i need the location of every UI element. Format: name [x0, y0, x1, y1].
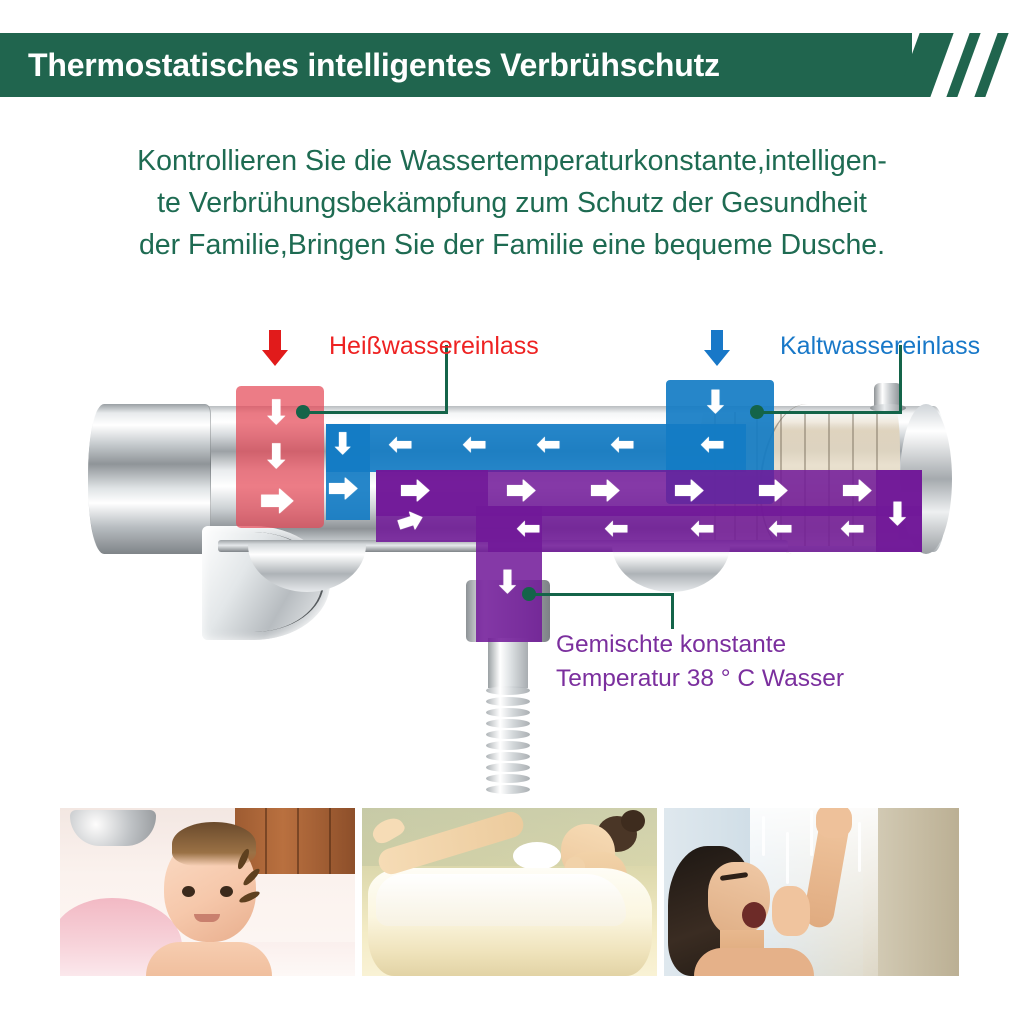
- subtitle-line-3: der Familie,Bringen Sie der Familie eine…: [0, 224, 1024, 266]
- arrow-left-icon: ⬅: [610, 430, 635, 460]
- mix-leader-dot: [522, 587, 536, 601]
- arrow-left-icon: ⬅: [536, 430, 561, 460]
- header-slash-icon: [974, 33, 1008, 97]
- mixed-water-outlet-label: Gemischte konstante Temperatur 38 ° C Wa…: [556, 628, 844, 696]
- arrow-down-icon: ⬇: [702, 386, 729, 418]
- arrow-left-icon: ⬅: [388, 430, 413, 460]
- arrow-left-icon: ⬅: [604, 514, 629, 544]
- hot-water-inlet-label: Heißwassereinlass: [329, 332, 539, 361]
- arrow-right-icon: ⮕: [328, 476, 358, 506]
- mix-leader-horizontal: [534, 593, 674, 596]
- arrow-left-icon: ⬅: [700, 430, 725, 460]
- faucet-flow-diagram: ⬇ ⬇ ⮕ ⬇ ⮕ ⬅ ⬅ ⬅ ⬅ ⬅ ⬇ ⮕ ⮕ ⮕ ⮕ ⮕ ⮕ ⮕ ⬇ ⬅ …: [0, 300, 1024, 800]
- arrow-left-icon: ⬅: [690, 514, 715, 544]
- hot-leader-dot: [296, 405, 310, 419]
- cold-water-inlet-label: Kaltwassereinlass: [780, 332, 980, 361]
- page-title: Thermostatisches intelligentes Verbrühsc…: [28, 33, 720, 97]
- infographic-page: Thermostatisches intelligentes Verbrühsc…: [0, 0, 1024, 1024]
- cold-leader-dot: [750, 405, 764, 419]
- arrow-left-icon: ⬅: [840, 514, 865, 544]
- arrow-right-icon: ⮕: [590, 478, 620, 508]
- arrow-right-icon: ⮕: [758, 478, 788, 508]
- photo-baby-bath: [60, 808, 355, 976]
- hot-leader-horizontal: [308, 411, 448, 414]
- photo-woman-shower: [664, 808, 959, 976]
- temperature-handle[interactable]: [88, 404, 211, 554]
- outlet-stem: [488, 638, 528, 688]
- mixed-label-line-2: Temperatur 38 ° C Wasser: [556, 662, 844, 696]
- arrow-right-icon: ⮕: [506, 478, 536, 508]
- arrow-down-icon: ⬇: [330, 430, 355, 460]
- photo-woman-bath: [362, 808, 657, 976]
- arrow-down-icon: ⬇: [262, 396, 291, 430]
- subtitle-line-1: Kontrollieren Sie die Wassertemperaturko…: [0, 140, 1024, 182]
- arrow-left-icon: ⬅: [462, 430, 487, 460]
- subtitle-line-2: te Verbrühungsbekämpfung zum Schutz der …: [0, 182, 1024, 224]
- arrow-left-icon: ⬅: [516, 514, 541, 544]
- subtitle-block: Kontrollieren Sie die Wassertemperaturko…: [0, 140, 1024, 266]
- photo-strip: [0, 808, 1024, 978]
- arrow-down-icon: ⬇: [494, 566, 521, 598]
- top-adjustment-knob[interactable]: [874, 383, 902, 409]
- arrow-right-icon: ⮕: [400, 478, 430, 508]
- arrow-down-icon: ⬇: [262, 440, 291, 474]
- cold-leader-horizontal: [762, 411, 902, 414]
- mix-leader-vertical: [671, 593, 674, 629]
- arrow-left-icon: ⬅: [768, 514, 793, 544]
- flexible-shower-hose: [486, 686, 530, 796]
- arrow-down-icon: ⬇: [884, 498, 911, 530]
- header-slash-icon: [946, 33, 980, 97]
- arrow-right-icon: ⮕: [842, 478, 872, 508]
- arrow-right-icon: ⮕: [674, 478, 704, 508]
- mixed-label-line-1: Gemischte konstante: [556, 628, 844, 662]
- arrow-right-icon: ⮕: [260, 486, 294, 520]
